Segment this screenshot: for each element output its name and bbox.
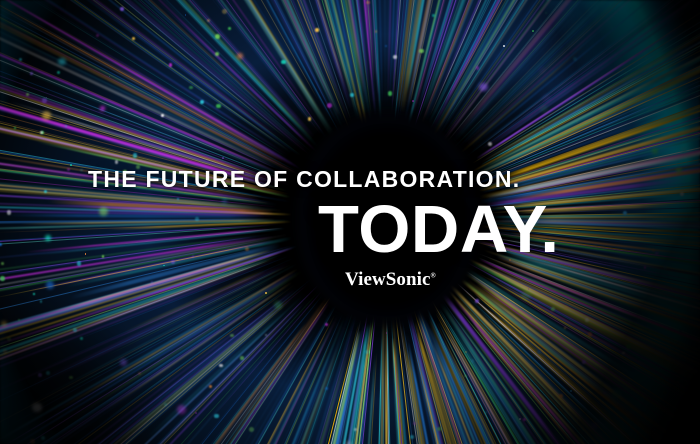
logo-word-view: View: [345, 269, 386, 290]
hero-banner: THE FUTURE OF COLLABORATION. TODAY. View…: [0, 0, 700, 444]
headline-secondary: TODAY.: [318, 196, 560, 263]
headline-primary: THE FUTURE OF COLLABORATION.: [88, 168, 520, 191]
registered-trademark-icon: ®: [431, 272, 436, 280]
viewsonic-logo: ViewSonic®: [345, 270, 436, 289]
logo-word-sonic: Sonic: [386, 269, 431, 290]
